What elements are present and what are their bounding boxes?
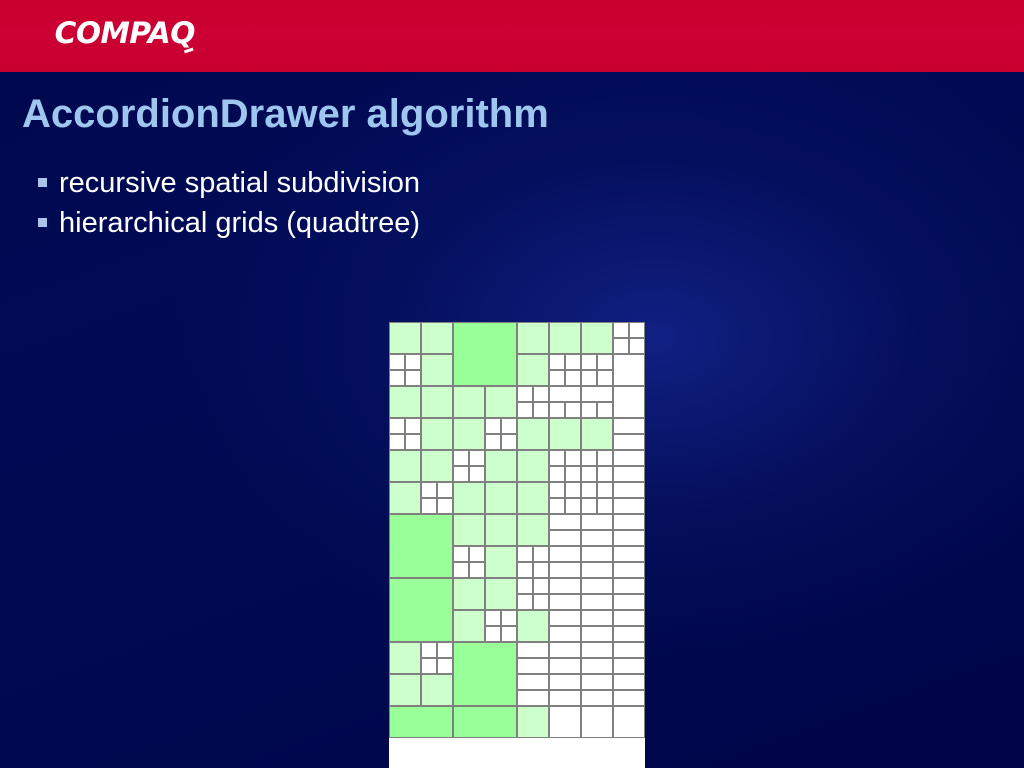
quadtree-cell [597,354,613,370]
quadtree-cell [581,450,597,466]
quadtree-cell [501,610,517,626]
quadtree-cell [469,466,485,482]
quadtree-cell [549,418,581,450]
quadtree-cell [533,386,549,402]
quadtree-cell [613,658,645,674]
quadtree-cell [581,466,597,482]
quadtree-cell [389,482,421,514]
quadtree-cell [517,322,549,354]
quadtree-cell [549,562,581,578]
quadtree-cell [597,482,613,498]
quadtree-cell [469,562,485,578]
quadtree-cell [581,482,597,498]
quadtree-cell [501,418,517,434]
quadtree-cell [453,482,485,514]
quadtree-cell [389,354,405,370]
quadtree-cell [517,674,549,690]
quadtree-cell [597,450,613,466]
quadtree-cell [581,514,613,530]
list-item: recursive spatial subdivision [38,168,738,199]
quadtree-cell [517,354,549,386]
quadtree-cell [581,610,613,626]
quadtree-cell [613,610,645,626]
quadtree-cell [485,418,501,434]
quadtree-cell [613,418,645,434]
quadtree-cell [581,706,613,738]
quadtree-cell [533,402,549,418]
quadtree-cell [389,642,421,674]
quadtree-cell [597,466,613,482]
quadtree-cell [485,578,517,610]
quadtree-cell [453,546,469,562]
compaq-logo-tail: Q [170,19,195,48]
quadtree-cell [597,370,613,386]
quadtree-cell [629,338,645,354]
quadtree-cell [485,610,501,626]
quadtree-cell [517,402,533,418]
quadtree-cell [613,594,645,610]
quadtree-cell [453,514,485,546]
quadtree-cell [517,610,549,642]
quadtree-cell [453,418,485,450]
quadtree-cell [549,658,581,674]
quadtree-cell [549,674,581,690]
quadtree-cell [581,578,613,594]
quadtree-cell [389,706,453,738]
quadtree-cell [517,690,549,706]
quadtree-cell [485,626,501,642]
quadtree-cell [389,450,421,482]
quadtree-cell [421,322,453,354]
quadtree-cell [453,386,485,418]
quadtree-cell [581,402,597,418]
quadtree-cell [613,530,645,546]
quadtree-cell [421,658,437,674]
quadtree-cell [581,546,613,562]
quadtree-cell [453,706,517,738]
quadtree-cell [437,642,453,658]
quadtree-cell [421,674,453,706]
quadtree-cell [421,354,453,386]
quadtree-cell [581,562,613,578]
quadtree-cell [549,466,565,482]
quadtree-cell [405,418,421,434]
quadtree-cell [533,594,549,610]
quadtree-cell [613,562,645,578]
quadtree-cell [501,626,517,642]
quadtree-cell [549,354,565,370]
quadtree-cell [485,546,517,578]
quadtree-cell [549,594,581,610]
quadtree-cell [597,402,613,418]
quadtree-cell [421,482,437,498]
quadtree-cell [581,530,613,546]
quadtree-cell [613,338,629,354]
quadtree-cell [613,450,645,466]
quadtree-cell [549,626,581,642]
quadtree-cell [549,530,581,546]
quadtree-cell [469,450,485,466]
quadtree-cell [629,322,645,338]
compaq-banner: COMPAQ [0,0,1024,72]
quadtree-cell [421,418,453,450]
quadtree-cell [549,322,581,354]
compaq-logo-main: COMPA [55,16,171,50]
quadtree-cell [565,354,581,370]
quadtree-cell [549,482,565,498]
quadtree-cell [501,434,517,450]
quadtree-cell [453,322,517,386]
quadtree-cell [517,418,549,450]
quadtree-cell [613,690,645,706]
quadtree-cell [581,354,597,370]
quadtree-cell [453,578,485,610]
quadtree-cell [405,434,421,450]
quadtree-cell [613,354,645,386]
quadtree-cell [485,434,501,450]
quadtree-cell [517,594,533,610]
quadtree-cell [549,370,565,386]
quadtree-cell [549,402,565,418]
quadtree-cell [389,322,421,354]
quadtree-cell [613,322,629,338]
quadtree-cell [517,642,549,658]
quadtree-cell [533,562,549,578]
quadtree-cell [421,642,437,658]
quadtree-cell [581,386,613,402]
quadtree-cell [517,386,533,402]
slide-canvas: COMPAQ AccordionDrawer algorithm recursi… [0,0,1024,768]
quadtree-cell [389,434,405,450]
quadtree-cell [469,546,485,562]
quadtree-cell [485,482,517,514]
quadtree-cell [549,578,581,594]
quadtree-cell [453,610,485,642]
quadtree-cell [453,642,517,706]
quadtree-cell [517,546,533,562]
quadtree-cell [565,370,581,386]
quadtree-cell [613,706,645,738]
quadtree-cell [549,706,581,738]
quadtree-cell [485,386,517,418]
quadtree-cell [517,450,549,482]
quadtree-cell [421,386,453,418]
quadtree-cell [517,562,533,578]
quadtree-cell [517,514,549,546]
quadtree-cell [581,626,613,642]
quadtree-cell [549,610,581,626]
quadtree-cell [389,418,405,434]
quadtree-cell [581,370,597,386]
quadtree-cell [581,498,597,514]
quadtree-cell [613,514,645,530]
quadtree-cell [533,546,549,562]
quadtree-cell [389,674,421,706]
quadtree-cell [581,642,613,658]
quadtree-cell [437,658,453,674]
quadtree-cell [581,674,613,690]
quadtree-cell [613,498,645,514]
quadtree-cell [405,370,421,386]
quadtree-cell [389,370,405,386]
quadtree-cell [549,450,565,466]
quadtree-cell [389,386,421,418]
quadtree-cell [453,562,469,578]
bullet-list: recursive spatial subdivision hierarchic… [38,168,738,247]
quadtree-cell [437,482,453,498]
list-item: hierarchical grids (quadtree) [38,208,738,239]
quadtree-cell [549,514,581,530]
quadtree-cell [549,498,565,514]
quadtree-cell [613,482,645,498]
quadtree-cell [421,498,437,514]
quadtree-cell [485,514,517,546]
quadtree-cell [613,674,645,690]
quadtree-cell [549,690,581,706]
quadtree-cell [613,626,645,642]
quadtree-cell [581,658,613,674]
quadtree-cell [581,418,613,450]
quadtree-cell [613,386,645,418]
quadtree-cell [565,450,581,466]
square-bullet-icon [38,178,47,187]
quadtree-cell [565,498,581,514]
quadtree-cell [613,642,645,658]
list-item-label: hierarchical grids (quadtree) [59,208,420,239]
quadtree-cell [421,450,453,482]
quadtree-cell [533,578,549,594]
quadtree-cell [597,498,613,514]
quadtree-cell [549,386,581,402]
quadtree-cell [581,594,613,610]
compaq-logo: COMPAQ [55,19,195,48]
quadtree-cell [581,322,613,354]
page-title: AccordionDrawer algorithm [22,92,549,137]
quadtree-cell [517,482,549,514]
quadtree-cell [389,514,453,578]
quadtree-cell [613,434,645,450]
quadtree-cell [565,466,581,482]
quadtree-cell [549,546,581,562]
quadtree-cell [581,690,613,706]
quadtree-cell [485,450,517,482]
quadtree-cell [517,658,549,674]
quadtree-cell [565,482,581,498]
square-bullet-icon [38,218,47,227]
quadtree-cell [405,354,421,370]
quadtree-cell [565,402,581,418]
quadtree-cell [549,642,581,658]
quadtree-diagram [389,322,645,768]
quadtree-cell [613,578,645,594]
quadtree-cell [613,466,645,482]
quadtree-cell [453,466,469,482]
quadtree-cell [517,706,549,738]
quadtree-cell [437,498,453,514]
quadtree-cell [517,578,533,594]
quadtree-cell [453,450,469,466]
quadtree-cell [613,546,645,562]
quadtree-cell [389,578,453,642]
list-item-label: recursive spatial subdivision [59,168,420,199]
